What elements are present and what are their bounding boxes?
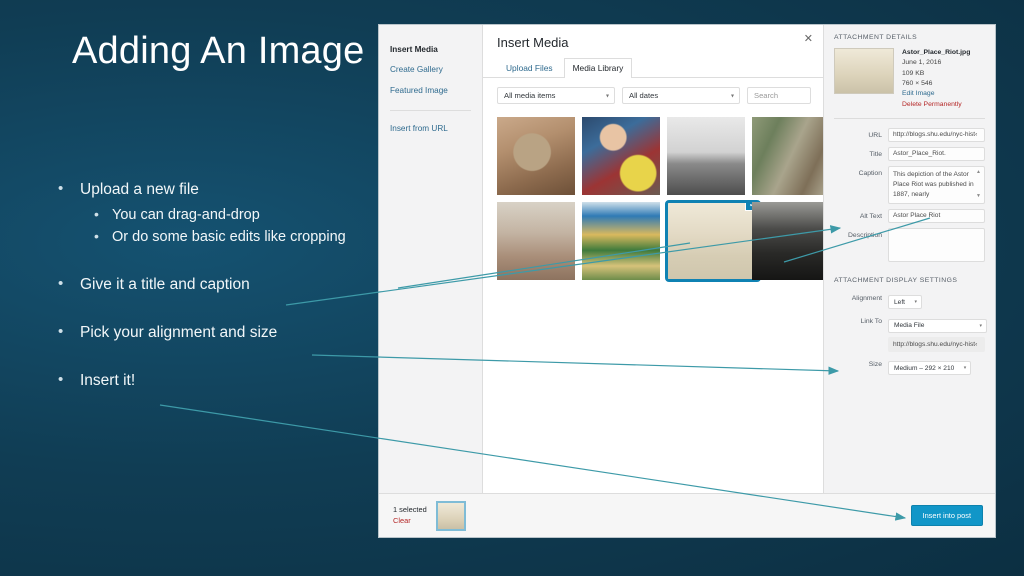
chevron-down-icon: ▾ — [731, 92, 734, 99]
dialog-body: Insert Media Create Gallery Featured Ima… — [379, 25, 995, 493]
selected-count: 1 selected — [393, 505, 427, 516]
chevron-down-icon: ▾ — [964, 365, 967, 371]
scroll-up-icon: ▲ — [976, 169, 981, 177]
tab-media-library[interactable]: Media Library — [564, 58, 633, 78]
alignment-label: Alignment — [834, 291, 888, 305]
dialog-title: Insert Media — [497, 35, 811, 50]
list-item: Pick your alignment and size — [50, 323, 380, 344]
description-field-row: Description — [834, 228, 985, 262]
selection-info: 1 selected Clear — [393, 505, 427, 526]
attachment-date: June 1, 2016 — [902, 58, 970, 68]
link-to-label: Link To — [834, 314, 888, 328]
link-to-value: Media File — [894, 322, 924, 329]
attachment-filesize: 109 KB — [902, 69, 970, 79]
filter-bar: All media items ▾ All dates ▾ Search — [483, 78, 823, 113]
panel-divider — [834, 118, 985, 119]
alt-text-label: Alt Text — [834, 209, 888, 223]
media-type-select[interactable]: All media items ▾ — [497, 87, 615, 104]
media-thumbnail-selected[interactable]: ✓ — [667, 202, 759, 280]
delete-permanently-link[interactable]: Delete Permanently — [902, 100, 970, 110]
description-label: Description — [834, 228, 888, 242]
historic-building-postcard — [497, 202, 575, 280]
attachment-details-heading: ATTACHMENT DETAILS — [834, 34, 985, 41]
sidebar-item-insert-media[interactable]: Insert Media — [379, 39, 482, 60]
dialog-footer: 1 selected Clear Insert into post — [379, 493, 995, 537]
media-thumbnail[interactable] — [497, 202, 575, 280]
media-grid-container: ✓ — [483, 113, 823, 493]
list-item: You can drag-and-drop — [50, 205, 380, 226]
url-label: URL — [834, 128, 888, 142]
list-item: Upload a new file — [50, 180, 380, 201]
alignment-select[interactable]: Left ▾ — [888, 295, 922, 309]
dialog-header: Insert Media ✕ Upload Files Media Librar… — [483, 25, 823, 78]
selected-thumbnail-preview[interactable] — [436, 501, 466, 531]
url-field[interactable]: http://blogs.shu.edu/nyc-hist‹ — [888, 128, 985, 142]
attachment-dimensions: 760 × 546 — [902, 79, 970, 89]
title-label: Title — [834, 147, 888, 161]
caption-scrollbar[interactable]: ▲ ▼ — [975, 169, 982, 201]
page-title: Adding An Image — [72, 30, 372, 74]
media-type-value: All media items — [504, 91, 555, 100]
aerial-landscape-map — [752, 117, 823, 195]
list-item: Insert it! — [50, 371, 380, 392]
link-to-select[interactable]: Media File ▾ — [888, 319, 987, 333]
sidebar-item-create-gallery[interactable]: Create Gallery — [379, 60, 482, 81]
media-grid: ✓ — [497, 117, 811, 280]
tab-bar: Upload Files Media Library — [497, 58, 811, 78]
alignment-row: Alignment Left ▾ — [834, 291, 985, 310]
chevron-down-icon: ▾ — [606, 92, 609, 99]
title-field-row: Title Astor_Place_Riot. — [834, 147, 985, 161]
presentation-slide: Adding An Image Upload a new file You ca… — [0, 0, 1024, 576]
chevron-down-icon: ▾ — [914, 299, 917, 305]
suspension-bridge-bw-photo — [667, 117, 745, 195]
caption-text: This depiction of the Astor Place Riot w… — [893, 171, 974, 198]
date-select[interactable]: All dates ▾ — [622, 87, 740, 104]
list-item: Give it a title and caption — [50, 275, 380, 296]
chevron-down-icon: ▾ — [979, 323, 982, 329]
attachment-metadata: Astor_Place_Riot.jpg June 1, 2016 109 KB… — [902, 48, 970, 110]
clear-selection-link[interactable]: Clear — [393, 516, 427, 527]
alt-text-field[interactable]: Astor Place Riot — [888, 209, 985, 223]
url-field-row: URL http://blogs.shu.edu/nyc-hist‹ — [834, 128, 985, 142]
media-thumbnail[interactable] — [582, 117, 660, 195]
bullet-list: Upload a new file You can drag-and-drop … — [50, 180, 380, 396]
scroll-down-icon: ▼ — [976, 193, 981, 201]
search-input[interactable]: Search — [747, 87, 811, 104]
attachment-preview-thumbnail[interactable] — [834, 48, 894, 94]
description-field[interactable] — [888, 228, 985, 262]
media-thumbnail[interactable] — [752, 117, 823, 195]
tab-upload-files[interactable]: Upload Files — [497, 58, 562, 78]
sidebar-item-featured-image[interactable]: Featured Image — [379, 81, 482, 102]
wordpress-media-dialog-screenshot: Insert Media Create Gallery Featured Ima… — [379, 25, 995, 537]
alt-text-field-row: Alt Text Astor Place Riot — [834, 209, 985, 223]
crowded-beach-illustration — [582, 202, 660, 280]
attachment-summary: Astor_Place_Riot.jpg June 1, 2016 109 KB… — [834, 48, 985, 110]
edit-image-link[interactable]: Edit Image — [902, 89, 970, 99]
astor-place-riot-engraving — [668, 203, 758, 279]
dark-interior-crowd-photo — [752, 202, 823, 280]
size-select[interactable]: Medium – 292 × 210 ▾ — [888, 361, 971, 375]
sidebar-divider — [390, 110, 471, 111]
insert-into-post-button[interactable]: Insert into post — [911, 505, 983, 526]
list-item: Or do some basic edits like cropping — [50, 227, 380, 248]
caption-field[interactable]: This depiction of the Astor Place Riot w… — [888, 166, 985, 204]
title-field[interactable]: Astor_Place_Riot. — [888, 147, 985, 161]
dog-on-rug-photo — [497, 117, 575, 195]
sidebar-item-insert-from-url[interactable]: Insert from URL — [379, 119, 482, 140]
dialog-main: Insert Media ✕ Upload Files Media Librar… — [483, 25, 823, 493]
size-value: Medium – 292 × 210 — [894, 365, 954, 372]
alignment-value: Left — [894, 299, 905, 306]
caption-field-row: Caption This depiction of the Astor Plac… — [834, 166, 985, 204]
media-thumbnail[interactable] — [752, 202, 823, 280]
size-label: Size — [834, 357, 888, 371]
media-thumbnail[interactable] — [582, 202, 660, 280]
attachment-filename: Astor_Place_Riot.jpg — [902, 48, 970, 58]
link-url-field[interactable]: http://blogs.shu.edu/nyc-hist‹ — [888, 337, 985, 352]
date-value: All dates — [629, 91, 658, 100]
close-icon[interactable]: ✕ — [804, 34, 813, 45]
media-thumbnail[interactable] — [497, 117, 575, 195]
attachment-panel: ATTACHMENT DETAILS Astor_Place_Riot.jpg … — [823, 25, 995, 493]
link-to-row: Link To Media File ▾ http://blogs.shu.ed… — [834, 314, 985, 352]
baby-with-ball-photo — [582, 117, 660, 195]
size-row: Size Medium – 292 × 210 ▾ — [834, 357, 985, 376]
display-settings-heading: ATTACHMENT DISPLAY SETTINGS — [834, 277, 985, 284]
media-thumbnail[interactable] — [667, 117, 745, 195]
dialog-sidebar: Insert Media Create Gallery Featured Ima… — [379, 25, 483, 493]
caption-label: Caption — [834, 166, 888, 180]
